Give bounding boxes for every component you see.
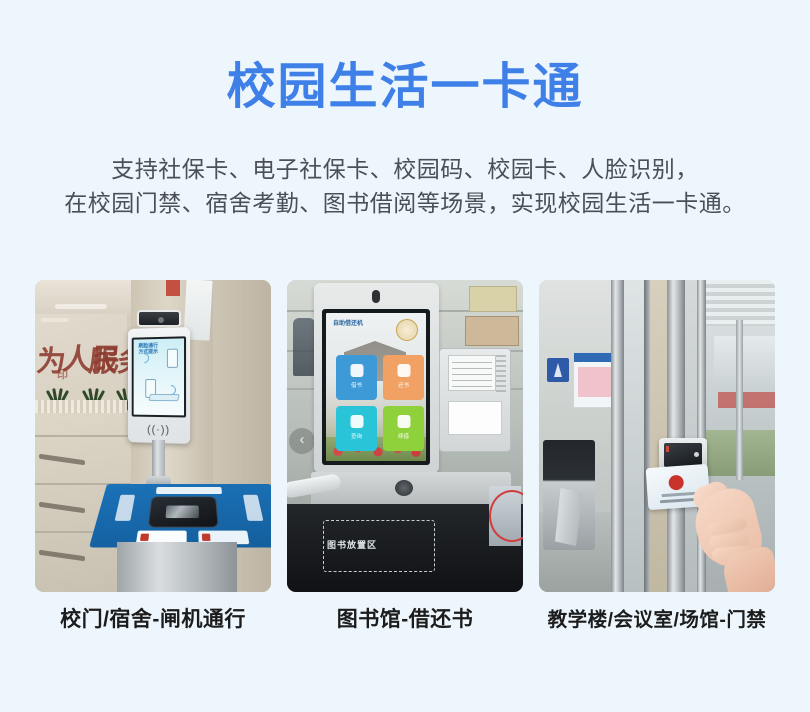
gate-qr-card-reader bbox=[148, 496, 219, 527]
promo-page: 校园生活一卡通 支持社保卡、电子社保卡、校园码、校园卡、人脸识别， 在校园门禁、… bbox=[0, 0, 810, 712]
overhead-camera-icon bbox=[137, 310, 181, 327]
vertical-text-strip bbox=[496, 355, 506, 393]
reader-illustration bbox=[148, 394, 179, 401]
kiosk-screen-title: 自助借还机 bbox=[333, 320, 363, 328]
tile-renew-label: 续借 bbox=[383, 434, 424, 441]
glass-pane bbox=[624, 280, 644, 592]
gallery-photo-1[interactable]: 为 人民 服务 印 bbox=[35, 280, 271, 592]
tile-return-label: 还书 bbox=[383, 383, 424, 390]
subtitle-line-2: 在校园门禁、宿舍考勤、图书借阅等场景，实现校园生活一卡通。 bbox=[0, 186, 810, 220]
kiosk-screen-content: 自助借还机 借书 还书 bbox=[326, 313, 426, 461]
book-zone-label: 图书放置区 bbox=[327, 538, 377, 551]
chevron-left-icon[interactable]: ‹ bbox=[289, 428, 315, 454]
gate-brand-logo bbox=[156, 487, 222, 494]
gallery-photo-3[interactable] bbox=[539, 280, 775, 592]
red-sign bbox=[166, 280, 180, 296]
book-icon bbox=[350, 364, 363, 377]
turnstile-body bbox=[117, 542, 237, 592]
door-access-card-swipe-photo bbox=[539, 280, 775, 592]
shelf-box bbox=[465, 316, 519, 346]
photo-captions: 校门/宿舍-闸机通行 图书馆-借还书 教学楼/会议室/场馆-门禁 bbox=[35, 603, 775, 633]
tile-query-label: 查询 bbox=[336, 434, 377, 441]
search-icon bbox=[350, 415, 363, 428]
turnstile-wing bbox=[555, 488, 583, 546]
nfc-wave-icon: ((·)) bbox=[128, 423, 190, 436]
exterior-red-banner bbox=[718, 392, 775, 408]
book-placement-deck: 图书放置区 bbox=[287, 504, 523, 592]
national-emblem-icon bbox=[668, 475, 684, 491]
sensor-knob-icon bbox=[395, 480, 413, 496]
tile-renew[interactable]: 续借 bbox=[383, 406, 424, 451]
caption-photo-1: 校门/宿舍-闸机通行 bbox=[35, 603, 271, 633]
tile-query[interactable]: 查询 bbox=[336, 406, 377, 451]
ceiling-light-icon bbox=[41, 318, 69, 322]
kiosk-body: 自助借还机 借书 还书 bbox=[314, 283, 439, 473]
page-subtitle: 支持社保卡、电子社保卡、校园码、校园卡、人脸识别， 在校园门禁、宿舍考勤、图书借… bbox=[0, 152, 810, 220]
campus-gate-face-terminal-photo: 为 人民 服务 印 bbox=[35, 280, 271, 592]
subtitle-line-1: 支持社保卡、电子社保卡、校园码、校园卡、人脸识别， bbox=[0, 152, 810, 186]
door-mullion bbox=[644, 280, 650, 592]
renew-icon bbox=[397, 415, 410, 428]
library-self-service-kiosk-photo: ‹ 自助借还机 借书 bbox=[287, 280, 523, 592]
decorative-fence bbox=[35, 400, 127, 413]
caption-photo-2: 图书馆-借还书 bbox=[287, 603, 523, 633]
exterior-pole bbox=[736, 320, 743, 480]
tile-return[interactable]: 还书 bbox=[383, 355, 424, 400]
wall-poster bbox=[573, 352, 615, 408]
turnstile-gate-panel bbox=[89, 484, 271, 547]
terminal-screen: 刷脸通行方式提示 bbox=[132, 336, 186, 417]
interior-turnstile bbox=[543, 440, 595, 550]
directional-sign-icon bbox=[547, 358, 569, 382]
reader-indicator-icon bbox=[694, 452, 699, 457]
exterior-building bbox=[714, 336, 775, 390]
door-mullion bbox=[611, 280, 624, 592]
wall-notice-panel bbox=[439, 348, 511, 452]
status-led-icon bbox=[666, 446, 669, 452]
kiosk-touchscreen[interactable]: 自助借还机 借书 还书 bbox=[322, 309, 430, 465]
caption-photo-3: 教学楼/会议室/场馆-门禁 bbox=[539, 603, 775, 633]
gate-right-label bbox=[243, 495, 263, 521]
gate-left-label bbox=[115, 495, 135, 521]
hand-holding-card bbox=[691, 476, 769, 592]
photo-gallery: 为 人民 服务 印 bbox=[35, 280, 775, 592]
person-silhouette bbox=[293, 318, 315, 376]
phone-illustration bbox=[167, 349, 178, 368]
kiosk-menu-tiles: 借书 还书 查询 bbox=[336, 355, 424, 451]
kiosk-camera-icon bbox=[372, 290, 380, 303]
door-mullion bbox=[667, 280, 685, 592]
shelf-box bbox=[469, 286, 517, 312]
school-emblem-icon bbox=[396, 319, 418, 341]
return-box-icon bbox=[397, 364, 410, 377]
face-recognition-terminal: 刷脸通行方式提示 ((·)) bbox=[128, 327, 190, 444]
glass-pane bbox=[650, 280, 667, 592]
gallery-photo-2[interactable]: ‹ 自助借还机 借书 bbox=[287, 280, 523, 592]
tile-borrow-label: 借书 bbox=[336, 383, 377, 390]
notice-sheet bbox=[448, 355, 496, 391]
tile-borrow[interactable]: 借书 bbox=[336, 355, 377, 400]
ceiling-light-icon bbox=[55, 304, 107, 309]
panel-instruction-sheet bbox=[448, 401, 502, 435]
page-title: 校园生活一卡通 bbox=[0, 58, 810, 117]
